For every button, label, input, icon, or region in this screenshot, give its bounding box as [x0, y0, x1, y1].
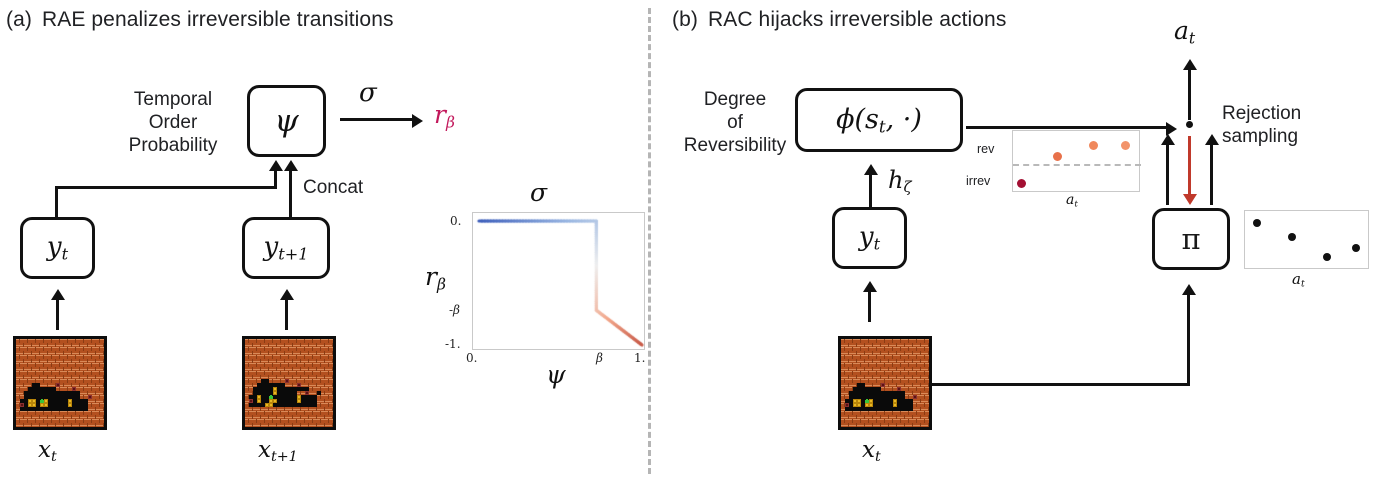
state-to-policy-arrow-head — [1182, 284, 1196, 295]
rejection-sampling-label: Rejection sampling — [1222, 102, 1301, 148]
policy-point-3 — [1352, 244, 1360, 252]
x-t1-to-y-t1-arrow-stem — [285, 300, 288, 330]
concat-right-arrow-stem — [289, 171, 292, 217]
sigma-ytick-negbeta: -β — [449, 303, 460, 317]
panel-a-title-text: RAE penalizes irreversible transitions — [42, 8, 394, 31]
concat-left-riser — [55, 189, 58, 217]
reversibility-ytick-irrev: irrev — [966, 174, 990, 188]
game-frame-x-t — [13, 336, 107, 430]
state-to-policy-line-vertical — [1187, 295, 1190, 385]
sigma-plot-xlabel: ψ — [546, 360, 566, 389]
action-out-arrow-head — [1183, 59, 1197, 70]
psi-to-reward-arrow-head — [412, 114, 423, 128]
rejection-return-arrow-stem — [1188, 136, 1191, 194]
pi-box-label: π — [1181, 222, 1200, 256]
x-t-to-y-t-arrow-stem — [56, 300, 59, 330]
phi-box-label: ϕ(st, ·) — [836, 104, 922, 137]
y-t-box-b-label: yt — [859, 222, 880, 254]
reversibility-threshold-line — [1013, 164, 1141, 166]
panel-b-tag: (b) — [672, 8, 698, 32]
degree-of-reversibility-label: Degree of Reversibility — [664, 88, 806, 157]
reversibility-point-2 — [1089, 141, 1098, 150]
game-frame-x-t1 — [242, 336, 336, 430]
y-t1-box-label: yt+1 — [264, 232, 309, 264]
x-t-label: xt — [38, 437, 57, 465]
policy-xlabel: at — [1292, 270, 1305, 290]
sigma-plot-ylabel: rβ — [425, 262, 446, 293]
sigma-ytick-neg1: -1. — [445, 337, 461, 351]
x-t-to-y-t-arrow-head — [51, 289, 65, 300]
panel-a-tag: (a) — [6, 8, 32, 32]
panel-a-title: (a)RAE penalizes irreversible transition… — [6, 8, 394, 32]
sigma-xtick-1: 1. — [634, 351, 645, 365]
panel-b-title-text: RAC hijacks irreversible actions — [708, 8, 1006, 31]
x-t-to-y-t-arrow-head-b — [863, 281, 877, 292]
sigma-xtick-0: 0. — [466, 351, 477, 365]
sigma-ytick-0: 0. — [450, 214, 461, 228]
sigma-plot-title: σ — [530, 178, 547, 207]
psi-to-reward-arrow-line — [340, 118, 414, 121]
y-t-box[interactable]: yt — [20, 217, 95, 279]
reversibility-ytick-rev: rev — [977, 142, 994, 156]
concat-label: Concat — [303, 176, 363, 199]
sigma-xtick-beta: β — [596, 351, 603, 365]
game-frame-x-t-b — [838, 336, 932, 430]
reversibility-xlabel: at — [1066, 192, 1078, 209]
concat-right-arrow-head — [284, 160, 298, 171]
panel-b-title: (b)RAC hijacks irreversible actions — [672, 8, 1006, 32]
pi-to-junction-arrow-stem-right — [1210, 145, 1213, 205]
h-zeta-arrow-stem — [869, 175, 872, 207]
psi-box-label: ψ — [274, 103, 298, 139]
policy-point-2 — [1323, 253, 1331, 261]
rejection-junction-dot — [1186, 121, 1193, 128]
concat-left-arrow-head — [269, 160, 283, 171]
policy-point-1 — [1288, 233, 1296, 241]
reversibility-point-0 — [1017, 179, 1026, 188]
pi-box[interactable]: π — [1152, 208, 1230, 270]
concat-left-arrow-stem — [274, 171, 277, 189]
pi-to-junction-arrow-stem-left — [1166, 145, 1169, 205]
panel-divider — [648, 8, 651, 474]
reversibility-scatter-frame — [1012, 130, 1140, 192]
x-t-to-y-t-arrow-stem-b — [868, 292, 871, 322]
reversibility-point-1 — [1053, 152, 1062, 161]
x-t1-label: xt+1 — [258, 437, 298, 465]
y-t-box-b[interactable]: yt — [832, 207, 907, 269]
psi-box[interactable]: ψ — [247, 85, 326, 157]
reversibility-point-3 — [1121, 141, 1130, 150]
concat-bus-line — [55, 186, 277, 189]
x-t-label-b: xt — [862, 437, 881, 465]
reward-label: rβ — [434, 100, 455, 131]
policy-point-0 — [1253, 219, 1261, 227]
y-t1-box[interactable]: yt+1 — [242, 217, 330, 279]
y-t-box-label: yt — [47, 232, 68, 264]
x-t1-to-y-t1-arrow-head — [280, 289, 294, 300]
temporal-order-probability-label: Temporal Order Probability — [108, 88, 238, 157]
sigma-arrow-label: σ — [359, 78, 377, 108]
pi-to-junction-arrow-head-left — [1161, 134, 1175, 145]
action-out-label: at — [1174, 16, 1195, 47]
pi-to-junction-arrow-head-right — [1205, 134, 1219, 145]
h-zeta-arrow-head — [864, 164, 878, 175]
state-to-policy-line-horizontal — [930, 383, 1190, 386]
policy-scatter-frame — [1244, 210, 1369, 269]
h-zeta-label: hζ — [888, 166, 912, 196]
phi-box[interactable]: ϕ(st, ·) — [795, 88, 963, 152]
sigma-plot-frame — [472, 212, 645, 350]
phi-to-junction-line — [966, 126, 1169, 129]
rejection-return-arrow-head — [1183, 194, 1197, 205]
action-out-arrow-stem — [1188, 70, 1191, 120]
